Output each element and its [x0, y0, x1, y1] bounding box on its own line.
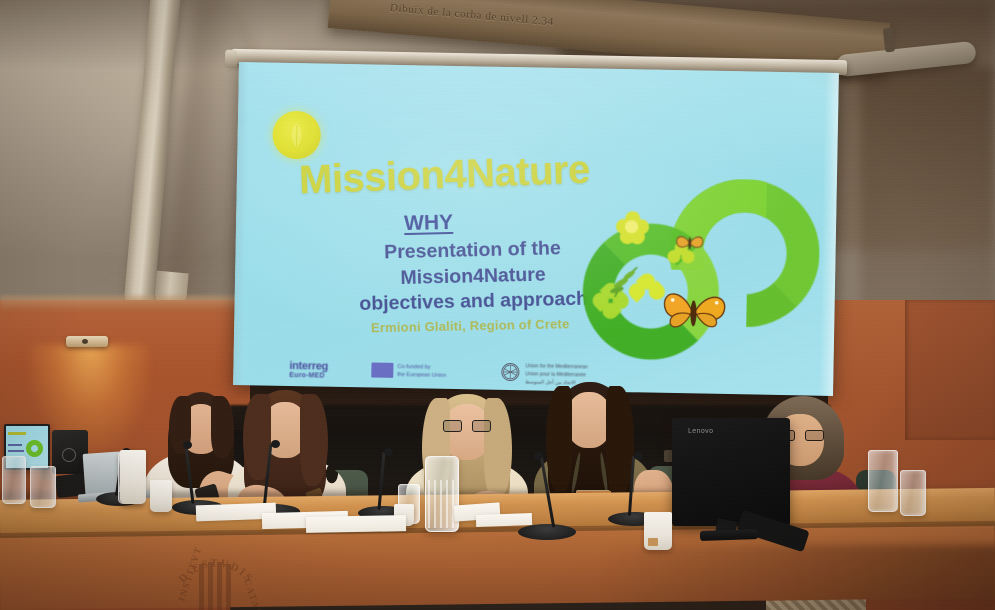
- nature-infinity-graphic-icon: [570, 174, 823, 369]
- microphone-head-6: [634, 452, 643, 460]
- dell-preview-text-line-2: [8, 450, 24, 452]
- paper-cup-logo: [648, 538, 658, 546]
- paper-cup-1[interactable]: [644, 512, 672, 550]
- lenovo-monitor-stand: [700, 529, 758, 541]
- water-glass-5[interactable]: [868, 450, 898, 512]
- institut-estudis-catalans-seal-icon: D'ESTVDIS INSTITVT CATALANS: [168, 546, 264, 610]
- water-glass-2[interactable]: [30, 466, 56, 508]
- dell-preview-graphic: [26, 440, 43, 457]
- water-glass-1[interactable]: [2, 456, 26, 504]
- dell-logo-icon: [62, 448, 76, 462]
- wall-lamp-lens: [82, 339, 88, 344]
- panelist-4-hair-left: [546, 386, 572, 492]
- panelist-3-glasses-icon: [443, 420, 491, 432]
- eu-funding-text: Co-funded by the European Union: [397, 363, 467, 381]
- panel-table-front-shadow: [600, 545, 995, 610]
- union-for-mediterranean-icon: [501, 363, 519, 381]
- lenovo-logo-text: Lenovo: [688, 428, 713, 435]
- butterfly-icon-small: [675, 232, 705, 255]
- eu-flag-icon: [371, 362, 393, 377]
- eu-funding-line-2: the European Union: [397, 371, 467, 381]
- conference-room-photo: Dibuix de la corba de nivell 2.34 Missio…: [0, 0, 995, 610]
- left-wall-top-edge: [0, 296, 250, 312]
- ceiling-shadow-right-lower: [860, 66, 995, 326]
- butterfly-icon-large: [656, 282, 731, 339]
- microphone-head-2: [183, 441, 192, 449]
- projected-slide: Mission4Nature WHY Presentation of the M…: [233, 62, 839, 396]
- dell-preview-title-line: [8, 432, 26, 435]
- document-sheet-4[interactable]: [476, 513, 532, 527]
- projection-screen-assembly: Mission4Nature WHY Presentation of the M…: [233, 62, 839, 403]
- paper-cup-3[interactable]: [150, 480, 172, 512]
- paper-cup-4[interactable]: [120, 450, 146, 504]
- interreg-logo-programme: Euro-MED: [289, 372, 351, 380]
- document-sheet-3[interactable]: [306, 515, 406, 533]
- microphone-head-3: [271, 440, 280, 448]
- panelist-3-hair-right: [484, 398, 512, 498]
- microphone-base-5[interactable]: [518, 524, 576, 540]
- screen-roller-endcap: [225, 50, 237, 68]
- microphone-head-4: [384, 448, 393, 456]
- interreg-logo: interreg Euro-MED: [289, 361, 351, 380]
- logo-leaf-glyph: [285, 121, 308, 151]
- right-wall-panel: [905, 300, 995, 440]
- dell-preview-text-line-1: [8, 444, 22, 446]
- seal-svg: D'ESTVDIS INSTITVT CATALANS: [168, 546, 264, 610]
- panelist-2-hair-right: [300, 394, 328, 486]
- microphone-head-5: [534, 452, 543, 460]
- slide-section-label: WHY: [404, 211, 454, 236]
- stem-leaves-icon: [607, 259, 648, 300]
- svg-text:CATALANS: CATALANS: [241, 578, 264, 610]
- water-glass-6[interactable]: [900, 470, 926, 516]
- water-carafe-ribbing: [428, 480, 456, 528]
